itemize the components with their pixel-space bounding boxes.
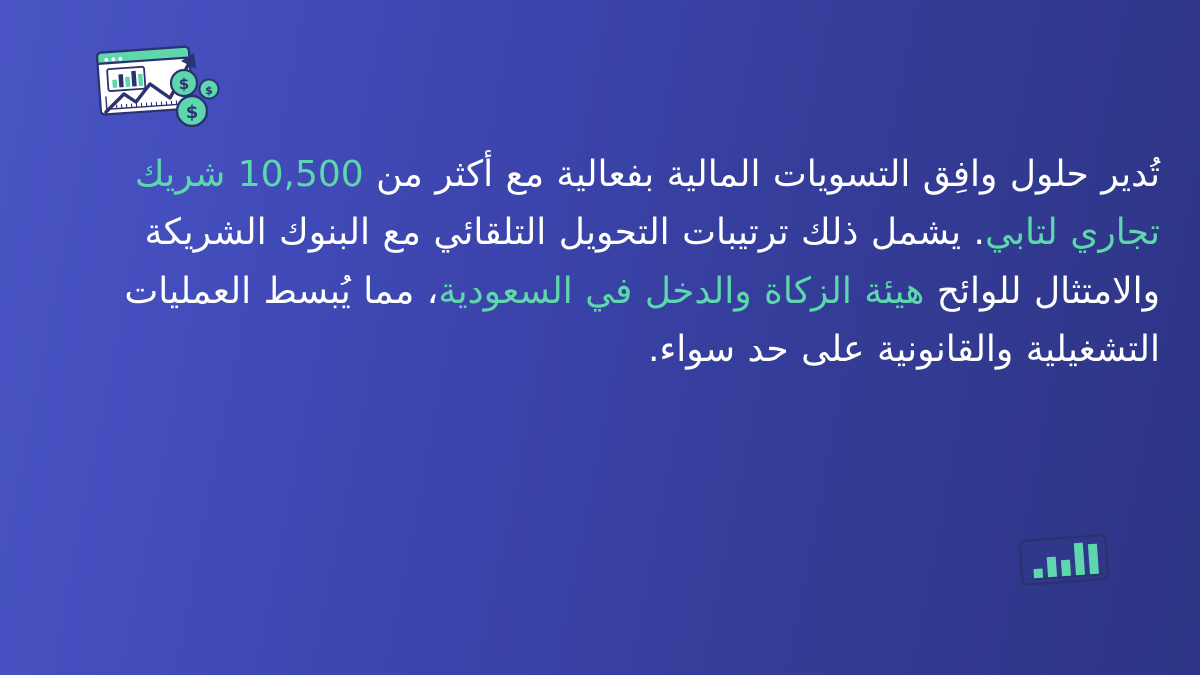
paragraph-segment-1: تُدير حلول وافِق التسويات المالية بفعالي… xyxy=(364,154,1160,195)
bar-chart-icon xyxy=(1012,530,1116,592)
svg-text:$: $ xyxy=(205,84,213,97)
slide-canvas: $ $ $ تُدير حلول وافِق التسويات المالية … xyxy=(0,0,1200,675)
financial-growth-chart-icon: $ $ $ xyxy=(88,36,220,128)
svg-text:$: $ xyxy=(186,102,199,123)
paragraph-segment-4-accent: هيئة الزكاة والدخل في السعودية xyxy=(438,271,924,312)
paragraph-block: تُدير حلول وافِق التسويات المالية بفعالي… xyxy=(40,146,1160,379)
svg-text:$: $ xyxy=(179,75,189,93)
body-paragraph: تُدير حلول وافِق التسويات المالية بفعالي… xyxy=(40,146,1160,379)
